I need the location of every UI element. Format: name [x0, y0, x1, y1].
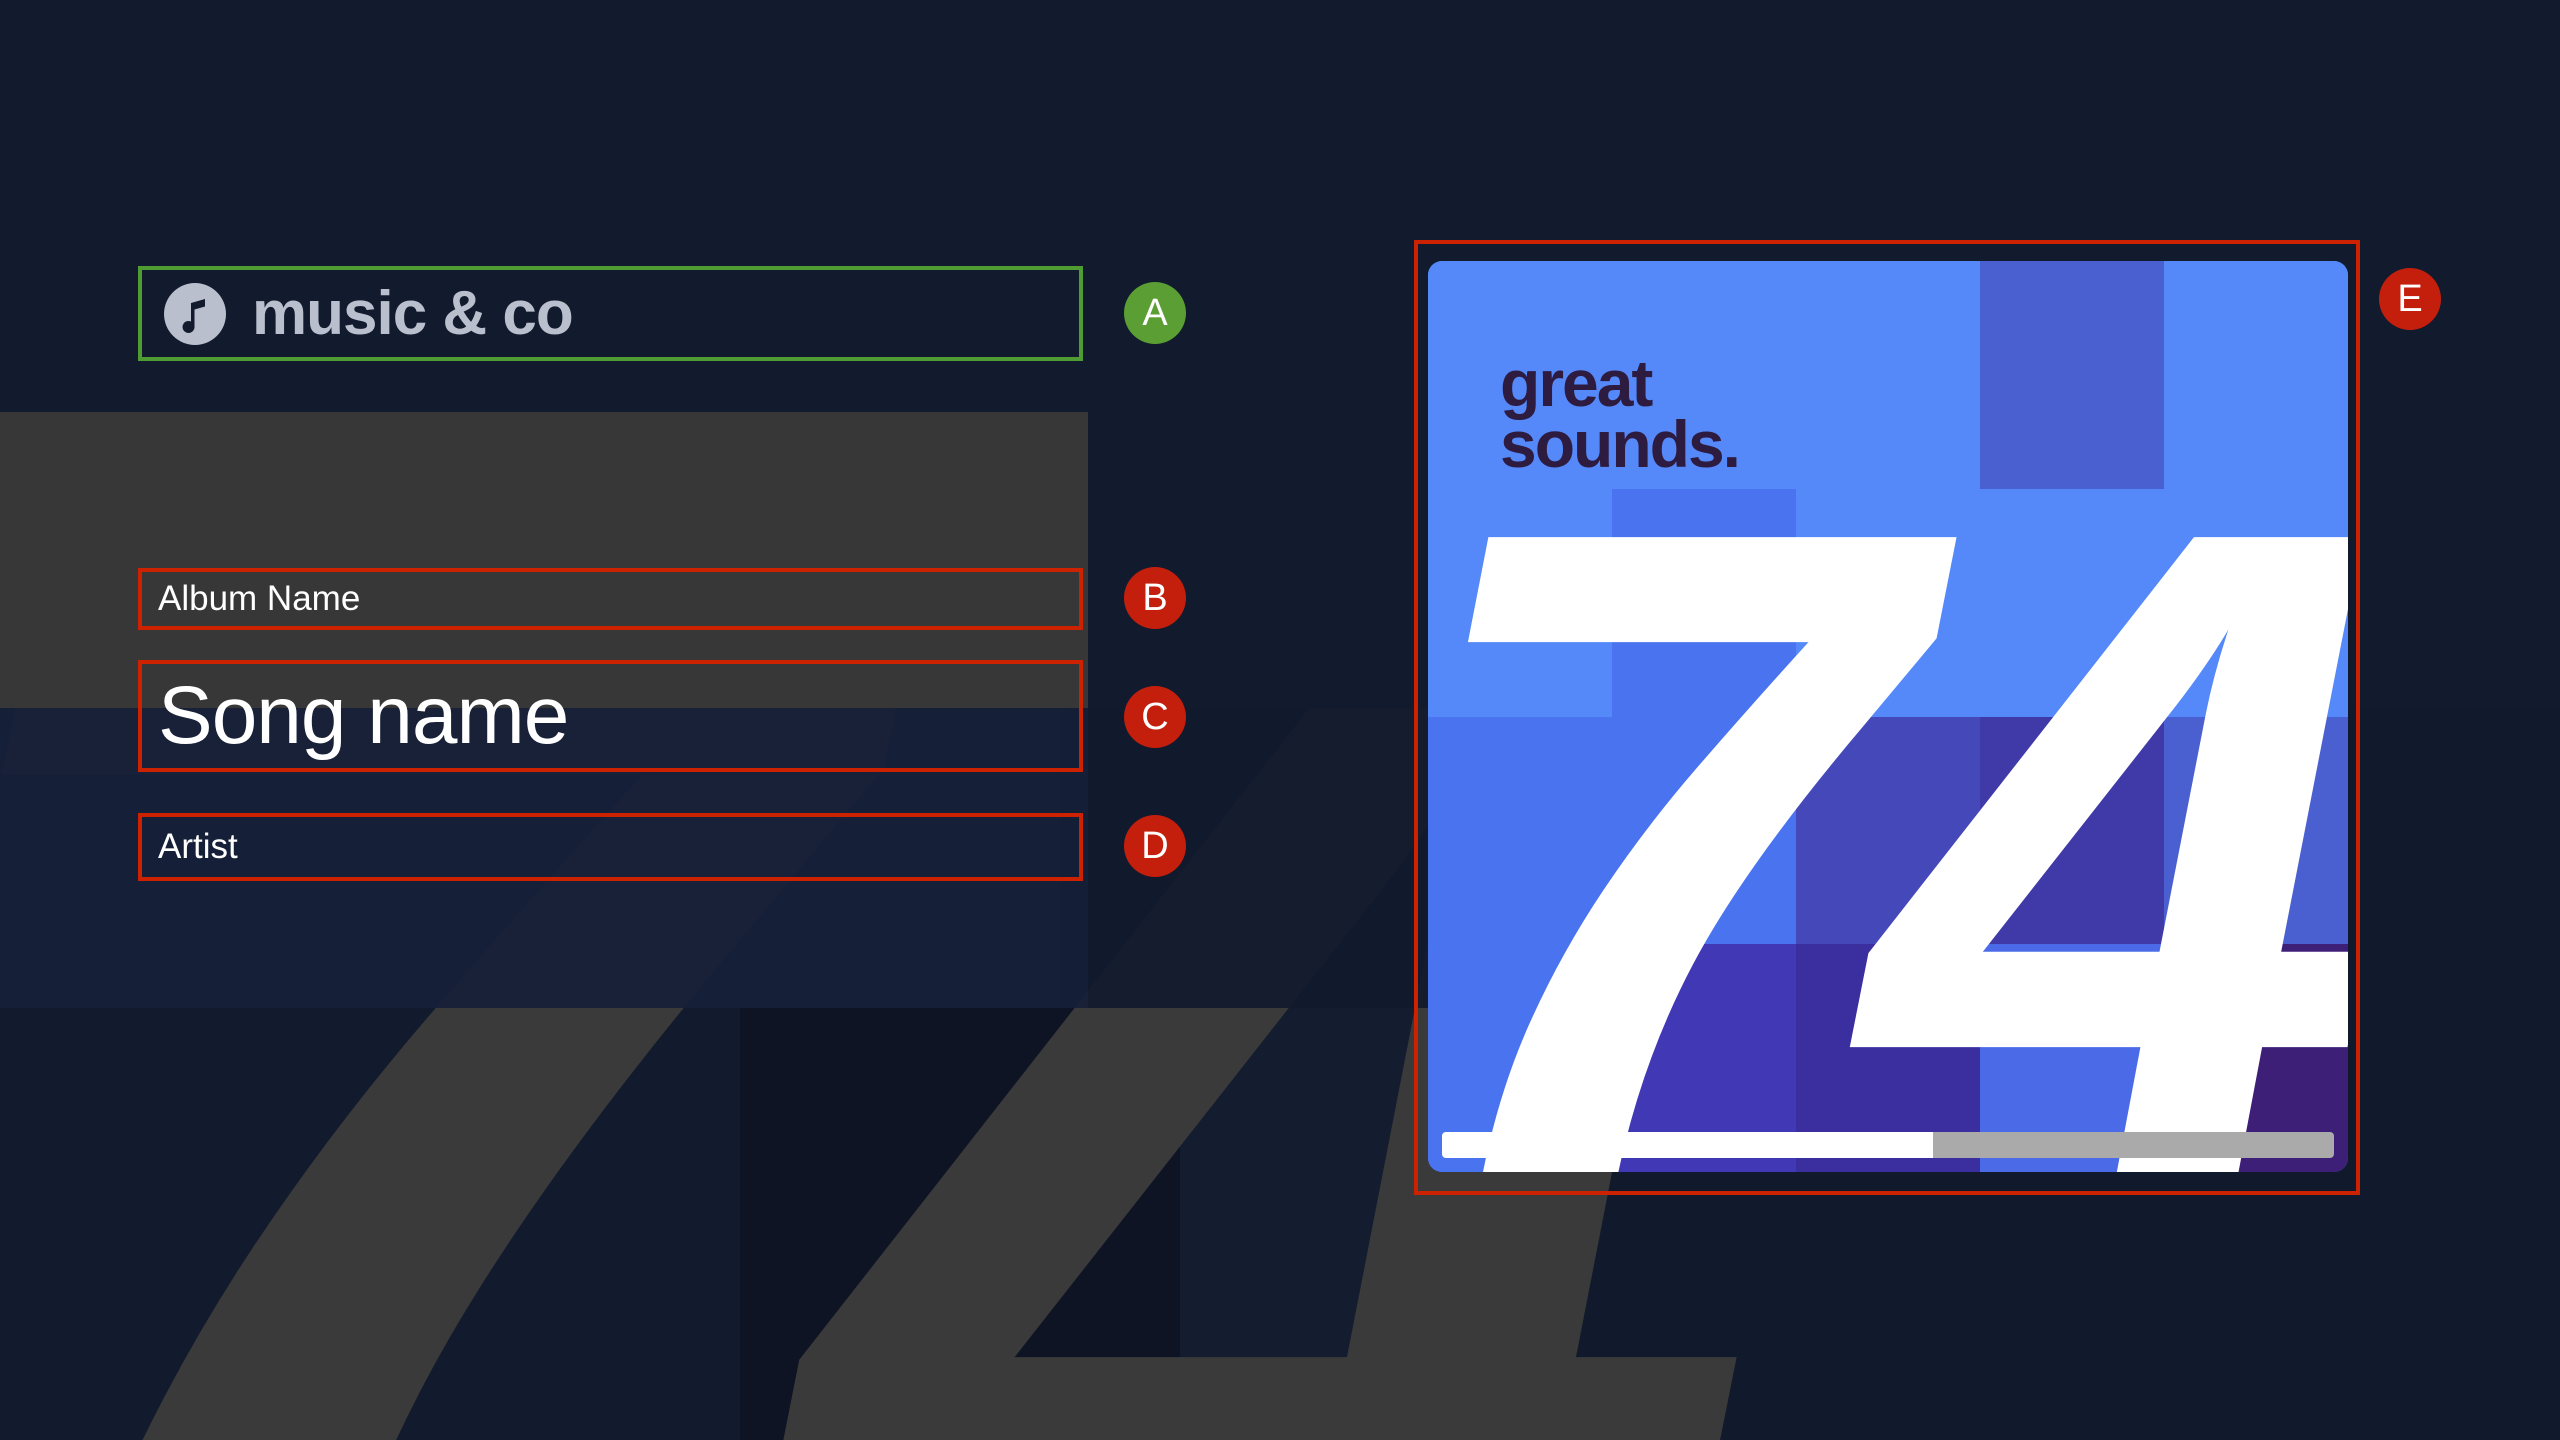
song-name-field[interactable]: Song name	[138, 660, 1083, 772]
brand-row[interactable]: music & co	[138, 266, 1083, 361]
annotation-badge-a: A	[1124, 282, 1186, 344]
brand-name: music & co	[252, 278, 573, 349]
playback-progress-bar[interactable]	[1442, 1132, 2334, 1158]
artist-text: Artist	[158, 827, 238, 867]
album-name-text: Album Name	[158, 579, 360, 619]
playback-progress-fill	[1442, 1132, 1933, 1158]
album-name-field[interactable]: Album Name	[138, 568, 1083, 630]
annotation-badge-c: C	[1124, 686, 1186, 748]
song-name-text: Song name	[158, 669, 568, 763]
annotation-badge-c-label: C	[1141, 696, 1168, 739]
annotation-badge-b-label: B	[1142, 577, 1167, 620]
artist-field[interactable]: Artist	[138, 813, 1083, 881]
music-note-icon	[164, 283, 226, 345]
album-art-card[interactable]: great sounds. 74	[1428, 261, 2348, 1172]
annotation-badge-e-label: E	[2397, 278, 2422, 321]
annotation-badge-e: E	[2379, 268, 2441, 330]
annotation-badge-a-label: A	[1142, 292, 1167, 335]
annotation-badge-b: B	[1124, 567, 1186, 629]
album-art-number: 74	[1428, 391, 2348, 1172]
annotation-badge-d-label: D	[1141, 825, 1168, 868]
annotation-badge-d: D	[1124, 815, 1186, 877]
